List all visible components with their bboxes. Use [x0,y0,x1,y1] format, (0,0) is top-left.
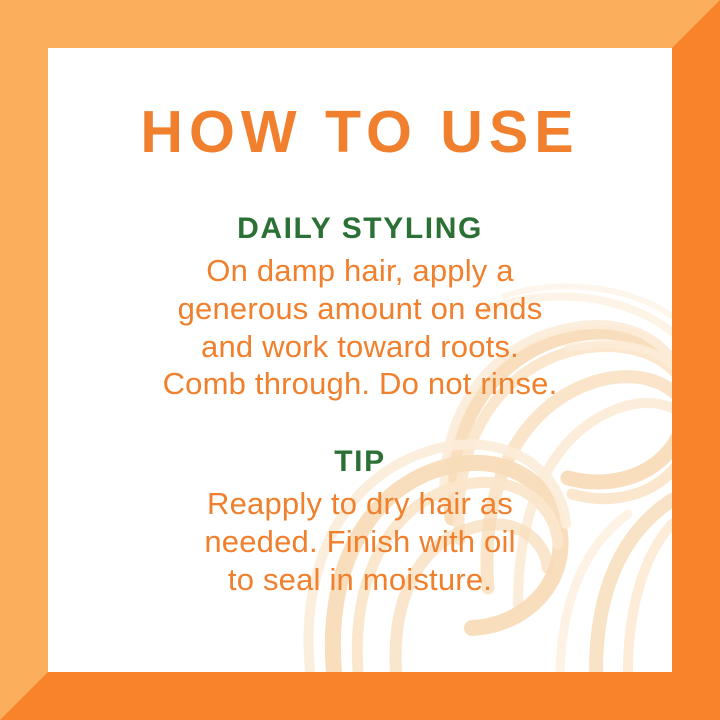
instruction-card: HOW TO USE DAILY STYLING On damp hair, a… [48,48,672,672]
body-line: to seal in moisture. [48,561,672,599]
section-tip: TIP Reapply to dry hair as needed. Finis… [48,445,672,598]
section-heading-tip: TIP [48,445,672,478]
body-line: Comb through. Do not rinse. [48,365,672,403]
section-body-tip: Reapply to dry hair as needed. Finish wi… [48,485,672,598]
page-title: HOW TO USE [140,103,579,162]
frame-right-rail [670,0,720,720]
body-line: Reapply to dry hair as [48,485,672,523]
section-daily-styling: DAILY STYLING On damp hair, apply a gene… [48,212,672,403]
body-line: On damp hair, apply a [48,252,672,290]
frame-bottom-rail [0,670,720,720]
decorative-orange-frame: HOW TO USE DAILY STYLING On damp hair, a… [0,0,720,720]
section-heading-daily-styling: DAILY STYLING [48,212,672,245]
body-line: needed. Finish with oil [48,523,672,561]
body-line: and work toward roots. [48,328,672,366]
section-body-daily-styling: On damp hair, apply a generous amount on… [48,252,672,403]
body-line: generous amount on ends [48,290,672,328]
